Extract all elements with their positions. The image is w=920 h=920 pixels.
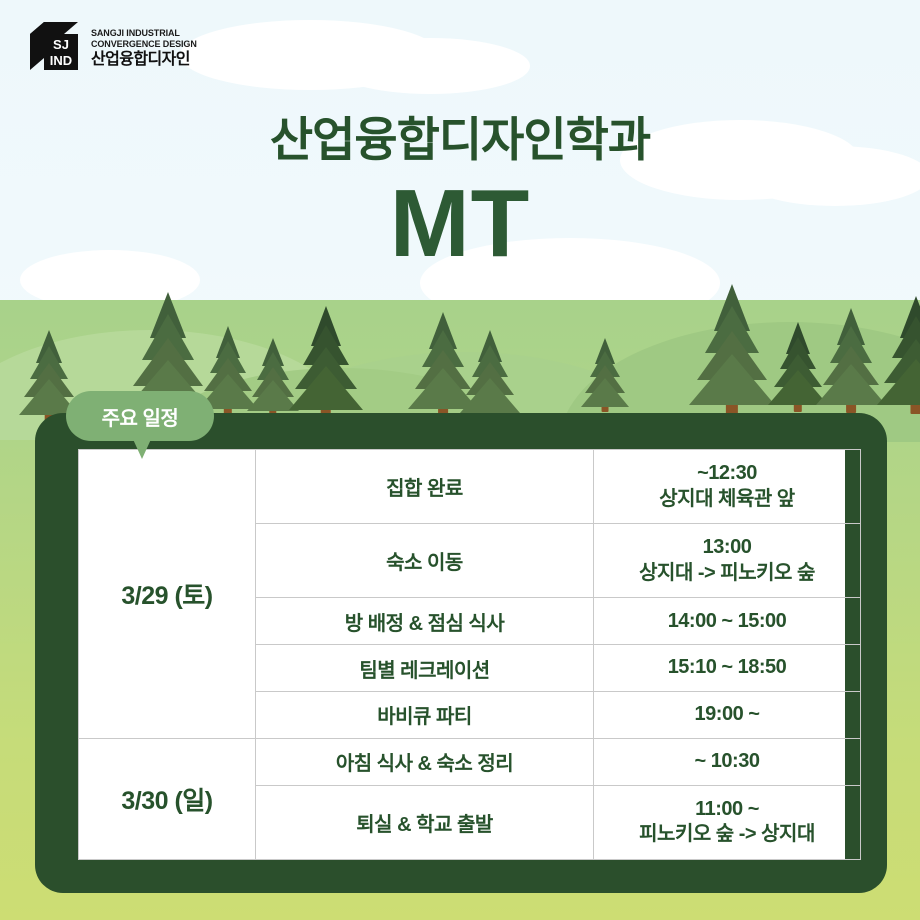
schedule-time-cell: ~12:30 상지대 체육관 앞 [594,450,861,524]
schedule-time-cell: 11:00 ~ 피노키오 숲 -> 상지대 [594,785,861,859]
pine-tree-icon [288,306,364,415]
schedule-time-cell: 13:00 상지대 -> 피노키오 숲 [594,524,861,598]
schedule-activity-cell: 방 배정 & 점심 식사 [256,598,594,645]
pine-tree-icon [460,330,520,417]
tree-foliage-layer [460,378,520,413]
cloud-shape [330,38,530,94]
schedule-activity-cell: 퇴실 & 학교 출발 [256,785,594,859]
pine-tree-icon [876,296,920,410]
svg-text:SJ: SJ [53,37,69,52]
schedule-time-cell: 14:00 ~ 15:00 [594,598,861,645]
schedule-activity-cell: 팀별 레크레이션 [256,645,594,692]
pine-tree-icon [580,338,630,410]
schedule-time-cell: 15:10 ~ 18:50 [594,645,861,692]
schedule-activity-cell: 숙소 이동 [256,524,594,598]
logo-text-block: SANGJI INDUSTRIAL CONVERGENCE DESIGN 산업융… [91,28,197,68]
tree-foliage-layer [289,366,363,410]
cube-logo-icon: SJ IND [26,20,82,76]
schedule-activity-cell: 바비큐 파티 [256,692,594,739]
schedule-table: 3/29 (토)집합 완료~12:30 상지대 체육관 앞숙소 이동13:00 … [78,449,861,860]
schedule-badge: 주요 일정 [66,391,214,441]
schedule-table-wrap: 3/29 (토)집합 완료~12:30 상지대 체육관 앞숙소 이동13:00 … [78,449,845,860]
poster-root: SJ IND SANGJI INDUSTRIAL CONVERGENCE DES… [0,0,920,920]
tree-foliage-layer [581,378,629,407]
schedule-time-cell: ~ 10:30 [594,738,861,785]
brand-logo: SJ IND SANGJI INDUSTRIAL CONVERGENCE DES… [26,20,197,76]
schedule-date-cell: 3/30 (일) [79,738,256,859]
event-title: MT [0,176,920,272]
logo-korean-name: 산업융합디자인 [91,52,197,68]
logo-english-name: SANGJI INDUSTRIAL CONVERGENCE DESIGN [91,28,197,50]
schedule-time-cell: 19:00 ~ [594,692,861,739]
schedule-activity-cell: 집합 완료 [256,450,594,524]
schedule-badge-label: 주요 일정 [102,402,179,431]
tree-foliage-layer [877,359,920,405]
svg-text:IND: IND [50,53,72,68]
schedule-date-cell: 3/29 (토) [79,450,256,739]
department-title: 산업융합디자인학과 [0,101,920,170]
schedule-activity-cell: 아침 식사 & 숙소 정리 [256,738,594,785]
table-row: 3/29 (토)집합 완료~12:30 상지대 체육관 앞 [79,450,861,524]
table-row: 3/30 (일)아침 식사 & 숙소 정리~ 10:30 [79,738,861,785]
tree-foliage-layer [689,354,775,405]
pine-tree-icon [688,284,776,410]
